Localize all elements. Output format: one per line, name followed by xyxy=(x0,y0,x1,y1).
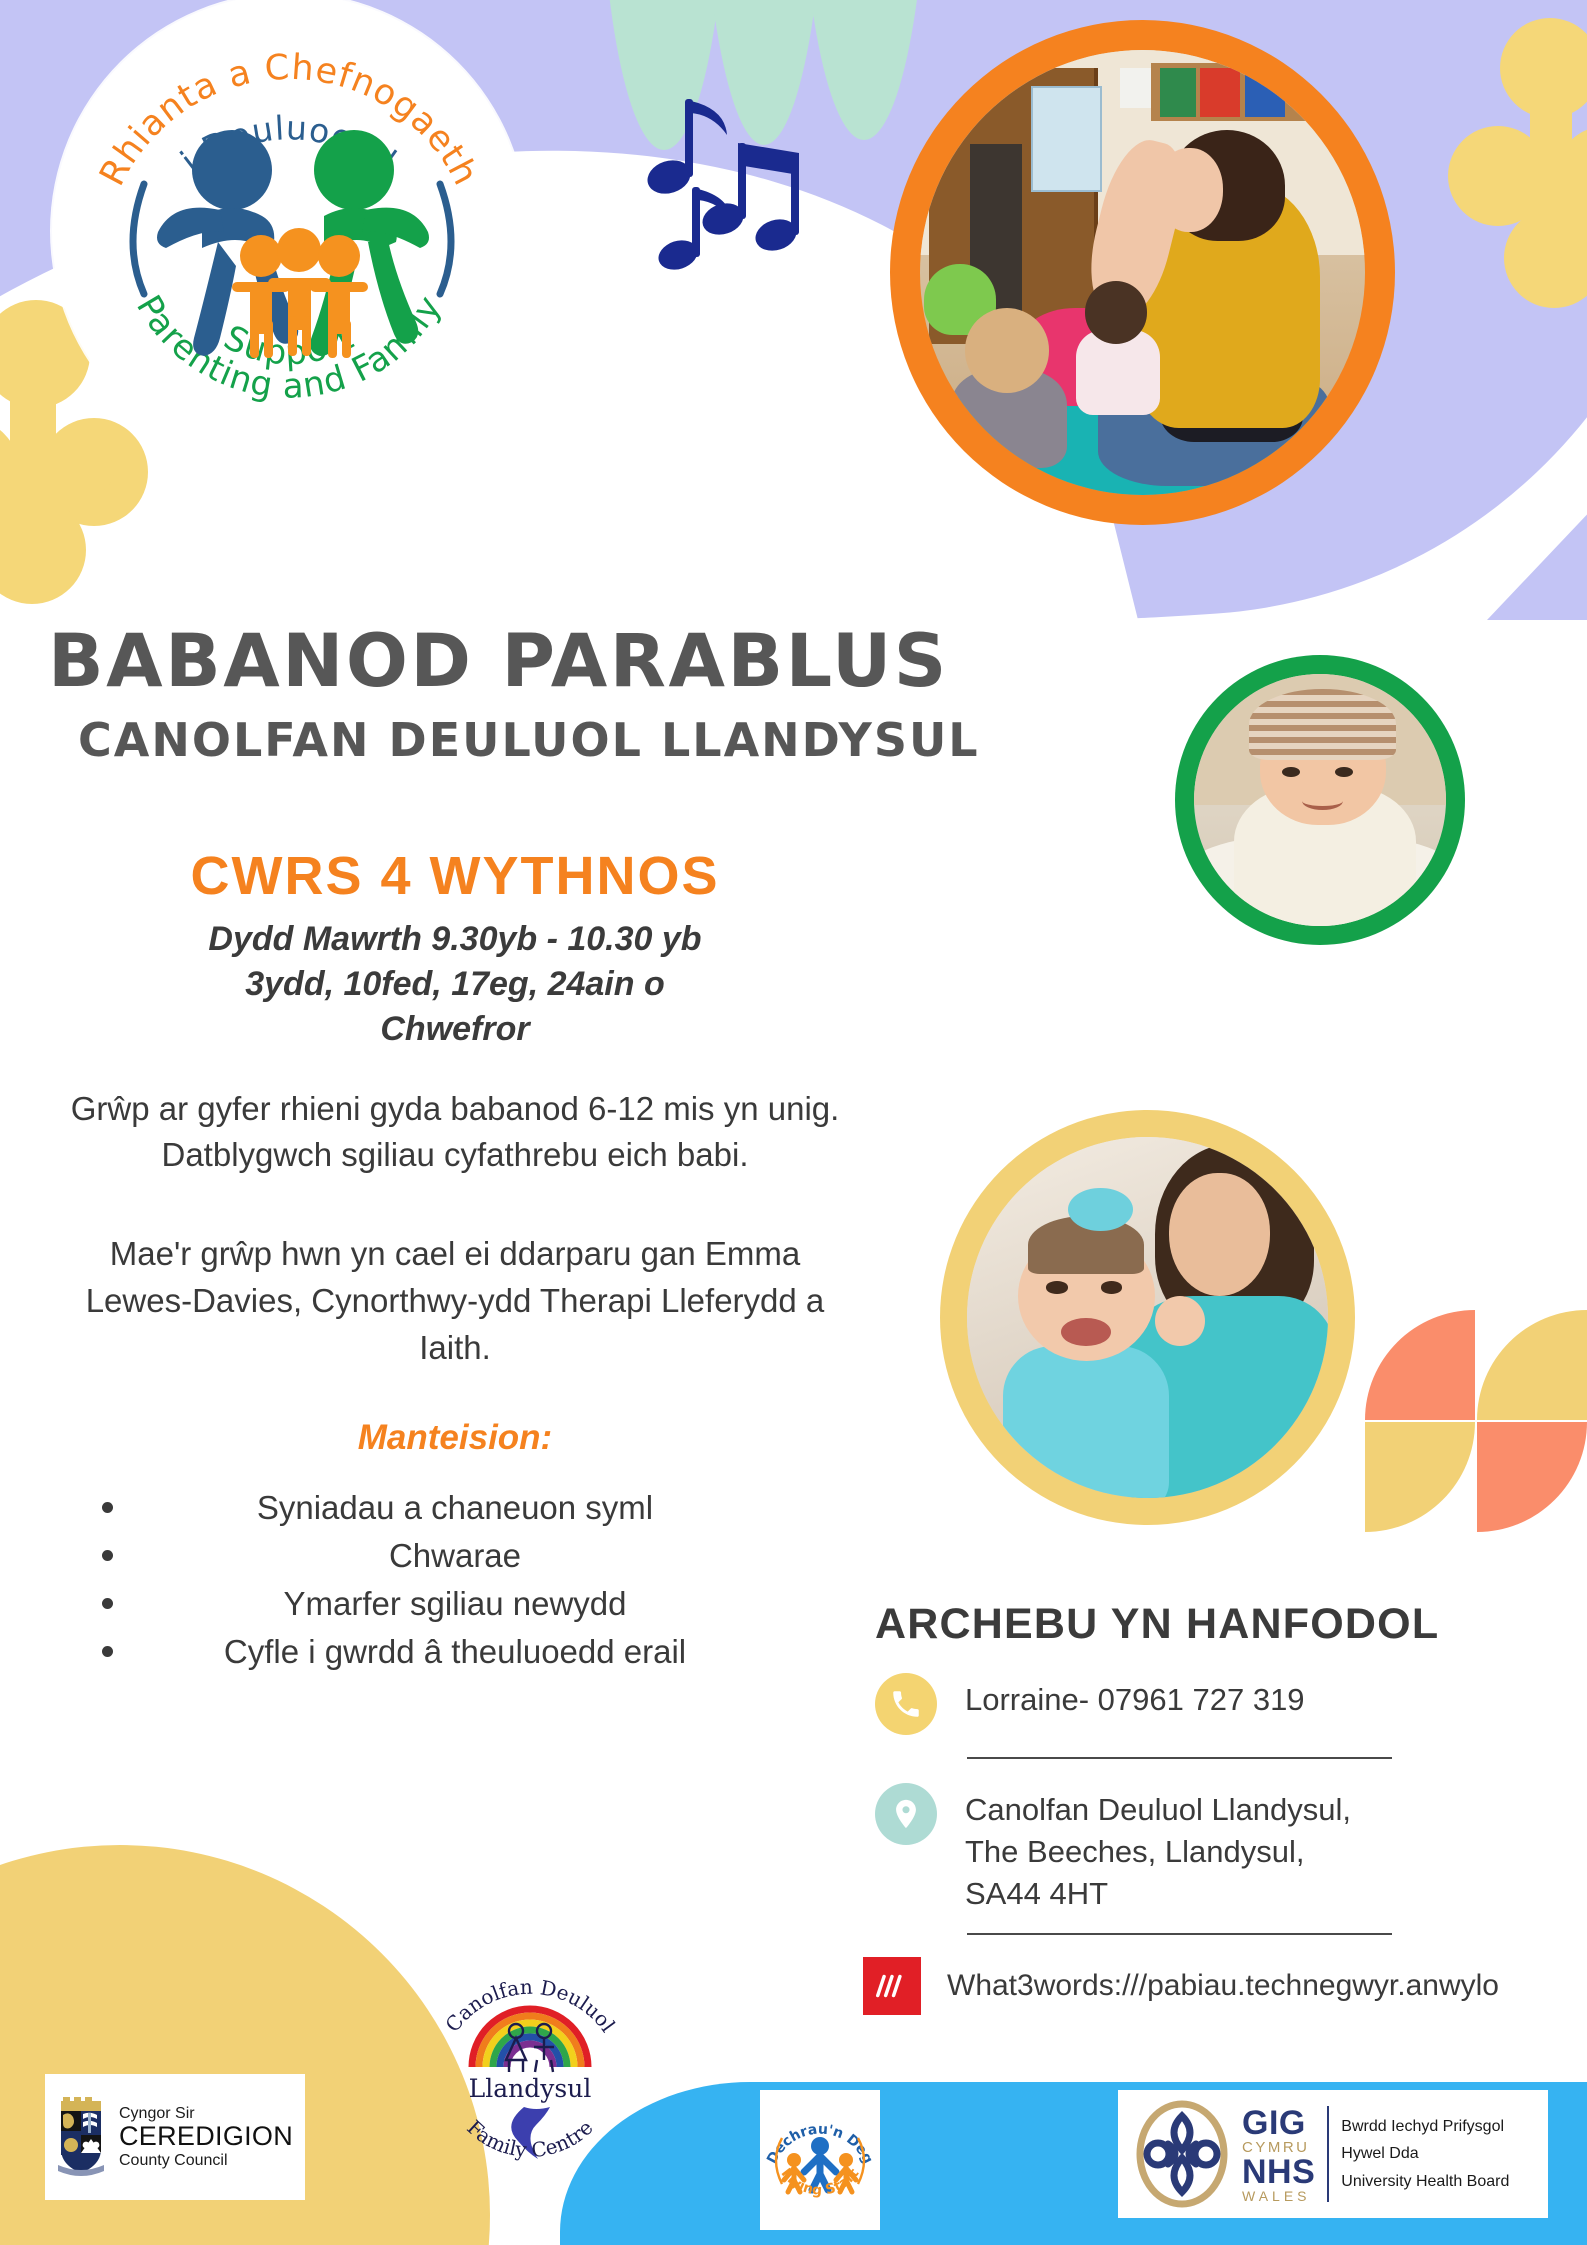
nhs-hywel-dda-logo: GIG CYMRU NHS WALES Bwrdd Iechyd Prifysg… xyxy=(1118,2090,1548,2218)
bullet-dot-icon xyxy=(102,1598,113,1609)
booking-section: ARCHEBU YN HANFODOL Lorraine- 07961 727 … xyxy=(875,1600,1515,2015)
benefits-heading: Manteision: xyxy=(60,1418,850,1458)
nhs-text: NHS xyxy=(1242,2155,1315,2189)
page-title: BABANOD PARABLUS CANOLFAN DEULUOL LLANDY… xyxy=(48,625,1048,767)
list-item: Cyfle i gwrdd â theuluoedd erail xyxy=(60,1628,850,1676)
list-item: Syniadau a chaneuon syml xyxy=(60,1484,850,1532)
photo-playgroup-session xyxy=(890,20,1395,525)
ceredigion-line-3: County Council xyxy=(119,2152,293,2169)
what3words-row[interactable]: What3words:///pabiau.technegwyr.anwylo xyxy=(863,1957,1515,2015)
what3words-icon xyxy=(863,1957,921,2015)
poster-root: Rhianta a Chefnogaeth i Deuluoedd Parent… xyxy=(0,0,1587,2245)
health-board-name: Bwrdd Iechyd Prifysgol Hywel Dda Univers… xyxy=(1341,2113,1509,2196)
schedule-line-3: Chwefror xyxy=(60,1007,850,1052)
title-main: BABANOD PARABLUS xyxy=(48,625,1048,699)
main-content-column: CWRS 4 WYTHNOS Dydd Mawrth 9.30yb - 10.3… xyxy=(60,845,850,1677)
course-schedule: Dydd Mawrth 9.30yb - 10.30 yb 3ydd, 10fe… xyxy=(60,917,850,1052)
phone-number: Lorraine- 07961 727 319 xyxy=(965,1671,1305,1721)
quote-mark-decoration xyxy=(1365,1310,1587,1532)
photo-smiling-baby xyxy=(1175,655,1465,945)
booking-heading: ARCHEBU YN HANFODOL xyxy=(875,1600,1515,1649)
nhs-wordmark: GIG CYMRU NHS WALES xyxy=(1242,2106,1315,2203)
nhs-knot-icon xyxy=(1128,2100,1236,2208)
flying-start-logo: Dechrau'n Deg Flying Start xyxy=(760,2090,880,2230)
health-board-line-3: University Health Board xyxy=(1341,2168,1509,2196)
ceredigion-line-2: CEREDIGION xyxy=(119,2122,293,2151)
what3words-address: What3words:///pabiau.technegwyr.anwylo xyxy=(947,1969,1499,2003)
svg-text:Llandysul: Llandysul xyxy=(469,2074,592,2103)
gig-text: GIG xyxy=(1242,2106,1315,2140)
benefits-list: Syniadau a chaneuon syml Chwarae Ymarfer… xyxy=(60,1484,850,1677)
address-line-3: SA44 4HT xyxy=(965,1873,1351,1915)
ceredigion-wordmark: Cyngor Sir CEREDIGION County Council xyxy=(119,2105,293,2169)
benefit-label: Syniadau a chaneuon syml xyxy=(257,1489,653,1526)
course-heading: CWRS 4 WYTHNOS xyxy=(60,845,850,907)
divider-2 xyxy=(967,1933,1392,1935)
description-paragraph-2: Mae'r grŵp hwn yn cael ei ddarparu gan E… xyxy=(60,1231,850,1372)
health-board-line-2: Hywel Dda xyxy=(1341,2140,1509,2168)
wales-text: WALES xyxy=(1242,2189,1315,2203)
music-notes-icon xyxy=(645,95,815,275)
address-line-1: Canolfan Deuluol Llandysul, xyxy=(965,1789,1351,1831)
address-text: Canolfan Deuluol Llandysul, The Beeches,… xyxy=(965,1781,1351,1915)
title-subtitle: CANOLFAN DEULUOL LLANDYSUL xyxy=(78,713,1048,767)
clover-shape-top-right xyxy=(1448,18,1587,308)
nhs-divider xyxy=(1327,2106,1329,2202)
bullet-dot-icon xyxy=(102,1502,113,1513)
benefit-label: Cyfle i gwrdd â theuluoedd erail xyxy=(224,1633,686,1670)
benefit-label: Ymarfer sgiliau newydd xyxy=(284,1585,627,1622)
description-paragraph-1: Grŵp ar gyfer rhieni gyda babanod 6-12 m… xyxy=(60,1086,850,1180)
bullet-dot-icon xyxy=(102,1646,113,1657)
location-pin-icon xyxy=(875,1783,937,1845)
phone-contact-row[interactable]: Lorraine- 07961 727 319 xyxy=(875,1671,1515,1735)
health-board-line-1: Bwrdd Iechyd Prifysgol xyxy=(1341,2113,1509,2141)
phone-icon xyxy=(875,1673,937,1735)
ceredigion-county-council-logo: Cyngor Sir CEREDIGION County Council xyxy=(45,2074,305,2200)
schedule-line-2: 3ydd, 10fed, 17eg, 24ain o xyxy=(60,962,850,1007)
photo-parent-and-baby xyxy=(940,1110,1355,1525)
ceredigion-crest-icon xyxy=(55,2095,107,2179)
canolfan-deuluol-family-centre-logo: Canolfan Deuluol Llandysul Family Centre xyxy=(420,1955,640,2185)
ceredigion-line-1: Cyngor Sir xyxy=(119,2105,293,2122)
bullet-dot-icon xyxy=(102,1550,113,1561)
address-row: Canolfan Deuluol Llandysul, The Beeches,… xyxy=(875,1781,1515,1915)
list-item: Chwarae xyxy=(60,1532,850,1580)
schedule-line-1: Dydd Mawrth 9.30yb - 10.30 yb xyxy=(60,917,850,962)
address-line-2: The Beeches, Llandysul, xyxy=(965,1831,1351,1873)
parenting-family-support-logo: Rhianta a Chefnogaeth i Deuluoedd Parent… xyxy=(52,0,526,468)
divider-1 xyxy=(967,1757,1392,1759)
benefit-label: Chwarae xyxy=(389,1537,521,1574)
list-item: Ymarfer sgiliau newydd xyxy=(60,1580,850,1628)
